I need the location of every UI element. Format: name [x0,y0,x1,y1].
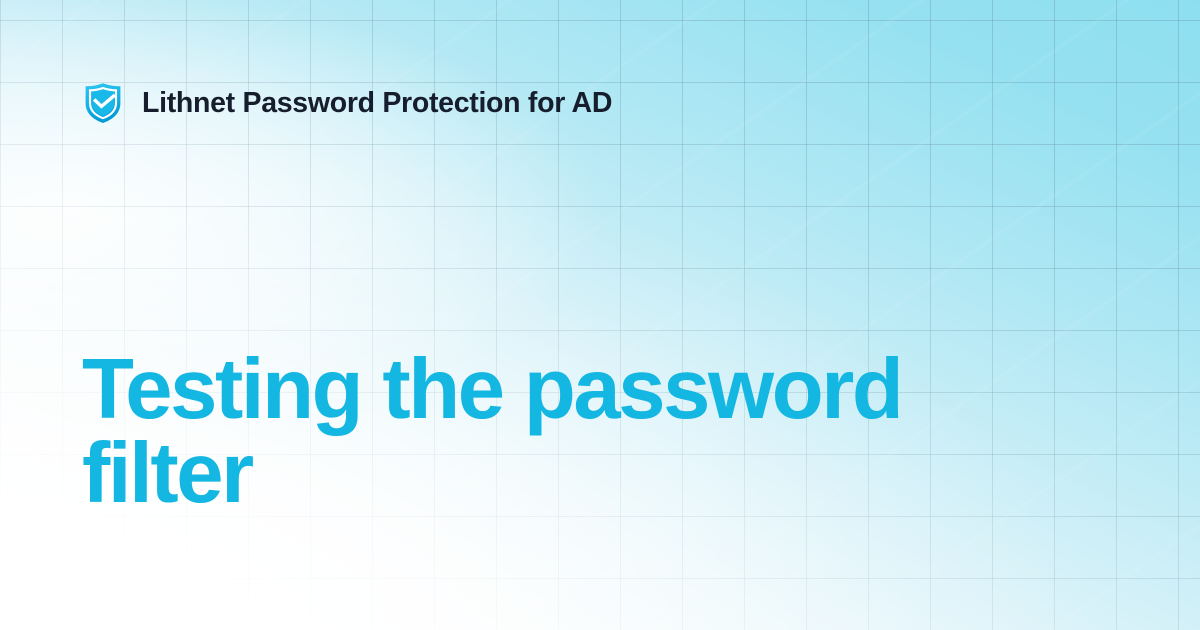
page-title: Testing the password filter [82,348,1082,516]
brand-title: Lithnet Password Protection for AD [142,89,612,118]
shield-check-icon [84,82,122,124]
og-card: Lithnet Password Protection for AD Testi… [0,0,1200,630]
brand-lockup: Lithnet Password Protection for AD [84,82,612,124]
card-content: Lithnet Password Protection for AD Testi… [0,0,1200,630]
